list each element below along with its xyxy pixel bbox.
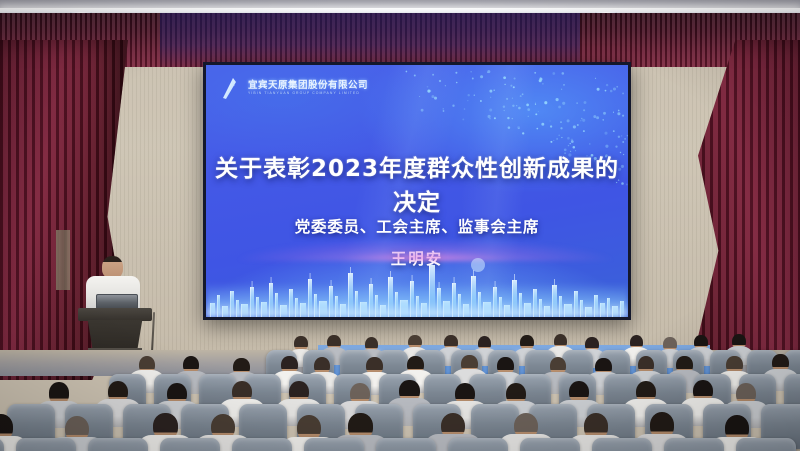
tianyuan-slash-logo-icon	[220, 76, 242, 100]
logo-company-name-cn: 宜宾天原集团股份有限公司	[248, 81, 368, 91]
auditorium-seat	[448, 438, 507, 451]
slide-title: 关于表彰2023年度群众性创新成果的决定	[206, 149, 628, 217]
auditorium-seat	[88, 438, 147, 451]
auditorium-seat	[736, 438, 795, 451]
auditorium-seat	[376, 438, 435, 451]
logo-company-name-en: YIBIN TIANYUAN GROUP COMPANY LIMITED	[248, 92, 368, 95]
slide-ground-glow	[206, 283, 628, 317]
auditorium-seat	[160, 438, 219, 451]
podium-top	[78, 308, 152, 321]
presentation-slide: 宜宾天原集团股份有限公司 YIBIN TIANYUAN GROUP COMPAN…	[206, 65, 628, 317]
led-screen-bezel: 宜宾天原集团股份有限公司 YIBIN TIANYUAN GROUP COMPAN…	[203, 62, 631, 320]
conference-hall-photo: 宜宾天原集团股份有限公司 YIBIN TIANYUAN GROUP COMPAN…	[0, 0, 800, 451]
auditorium-seat	[520, 438, 579, 451]
auditorium-seat	[16, 438, 75, 451]
auditorium-seat	[232, 438, 291, 451]
audience-seating	[0, 330, 800, 451]
auditorium-seat	[304, 438, 363, 451]
company-logo: 宜宾天原集团股份有限公司 YIBIN TIANYUAN GROUP COMPAN…	[220, 76, 368, 100]
auditorium-seat	[592, 438, 651, 451]
auditorium-seat	[664, 438, 723, 451]
